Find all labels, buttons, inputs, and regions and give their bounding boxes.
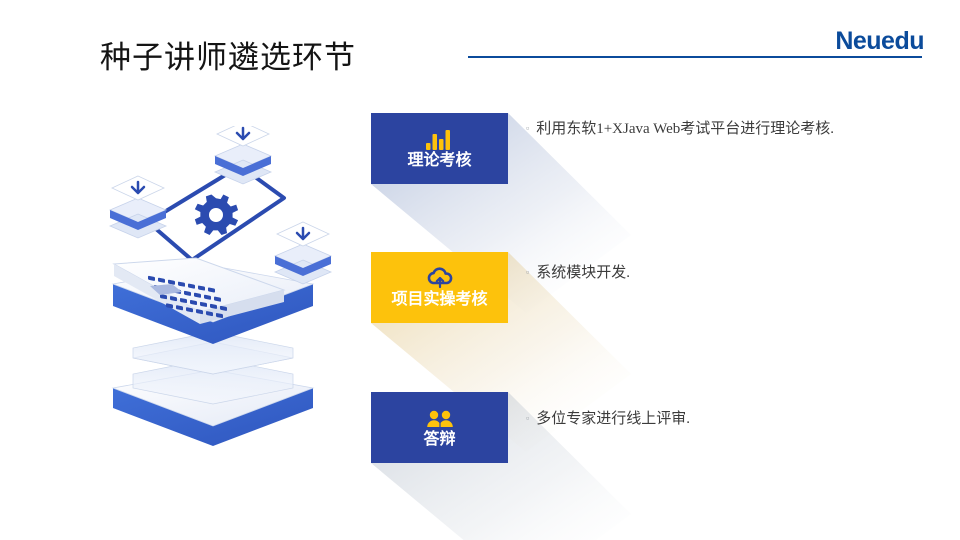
step-label-defense: 答辩 <box>423 432 455 448</box>
bullet-marker-icon: ▫ <box>526 408 529 428</box>
bullet-marker-icon: ▫ <box>526 118 529 138</box>
step-label-practice: 项目实操考核 <box>391 292 487 308</box>
bullet-text-defense: 多位专家进行线上评审. <box>536 408 690 430</box>
step-box-defense[interactable]: 答辩 <box>371 392 508 463</box>
two-people-icon <box>425 407 455 429</box>
floating-download-box-1 <box>110 176 166 238</box>
page-title: 种子讲师遴选环节 <box>100 32 356 77</box>
isometric-laptop-illustration <box>88 126 338 476</box>
bullet-practice: ▫ 系统模块开发. <box>526 262 876 284</box>
bullet-text-theory: 利用东软1+XJava Web考试平台进行理论考核. <box>536 118 834 140</box>
bullet-defense: ▫ 多位专家进行线上评审. <box>526 408 876 430</box>
step-label-theory: 理论考核 <box>407 153 471 169</box>
process-step-practice[interactable]: 项目实操考核 <box>371 252 508 323</box>
slide-canvas: 种子讲师遴选环节 Neuedu <box>0 0 960 540</box>
bullet-theory: ▫ 利用东软1+XJava Web考试平台进行理论考核. <box>526 118 876 140</box>
neuedu-logo: Neuedu <box>835 27 924 56</box>
process-step-theory[interactable]: 理论考核 <box>371 113 508 184</box>
step-box-theory[interactable]: 理论考核 <box>371 113 508 184</box>
bullet-marker-icon: ▫ <box>526 262 529 282</box>
floating-download-box-2 <box>215 126 271 184</box>
process-step-defense[interactable]: 答辩 <box>371 392 508 463</box>
floating-download-box-3 <box>275 222 331 284</box>
bullet-text-practice: 系统模块开发. <box>536 262 630 284</box>
header-divider <box>468 56 922 58</box>
cloud-upload-icon <box>426 267 454 289</box>
bar-chart-icon <box>425 128 455 150</box>
step-box-practice[interactable]: 项目实操考核 <box>371 252 508 323</box>
